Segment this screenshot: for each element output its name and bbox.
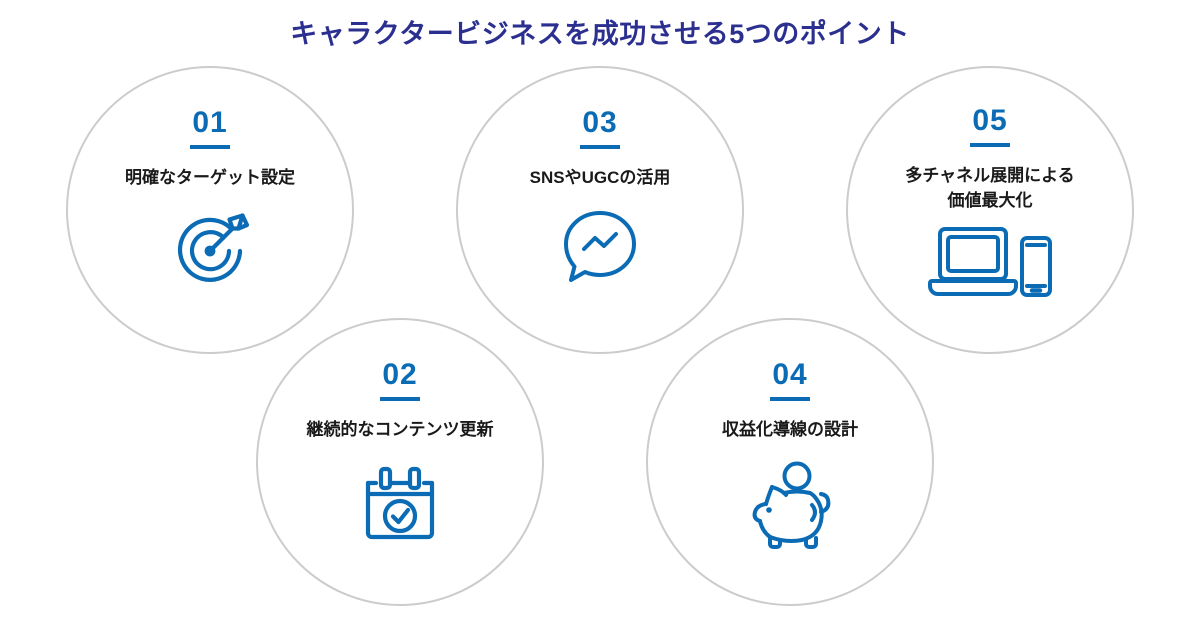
point-number-underline-02 [380,397,420,401]
speech-bubble-icon [560,207,640,292]
point-number-03: 03 [582,108,617,138]
calendar-check-icon [356,459,444,552]
point-number-block-01: 01 [190,108,230,149]
point-circle-01: 01 明確なターゲット設定 [66,66,354,354]
point-number-underline-03 [580,145,620,149]
point-label-02: 継続的なコンテンツ更新 [285,418,515,443]
point-number-05: 05 [972,106,1007,136]
point-number-underline-05 [970,143,1010,147]
point-content-05: 05 多チャネル展開による 価値最大化 [848,68,1132,390]
point-label-05: 多チャネル展開による 価値最大化 [865,164,1115,213]
point-number-block-02: 02 [380,360,420,401]
point-number-block-03: 03 [580,108,620,149]
point-label-04: 収益化導線の設計 [675,418,905,443]
point-number-underline-01 [190,145,230,149]
page-title: キャラクタービジネスを成功させる5つのポイント [0,12,1200,51]
point-number-underline-04 [770,397,810,401]
point-circle-03: 03 SNSやUGCの活用 [456,66,744,354]
infographic-canvas: キャラクタービジネスを成功させる5つのポイント 01 明確なターゲット設定 [0,0,1200,623]
point-label-01: 明確なターゲット設定 [95,166,325,191]
piggy-bank-icon [742,459,838,554]
target-dart-icon [166,207,254,300]
point-number-04: 04 [772,360,807,390]
point-label-03: SNSやUGCの活用 [485,166,715,191]
point-circle-05: 05 多チャネル展開による 価値最大化 [846,66,1134,354]
point-number-01: 01 [192,108,227,138]
point-number-block-05: 05 [970,106,1010,147]
point-number-02: 02 [382,360,417,390]
laptop-smartphone-icon [926,223,1054,310]
point-number-block-04: 04 [770,360,810,401]
